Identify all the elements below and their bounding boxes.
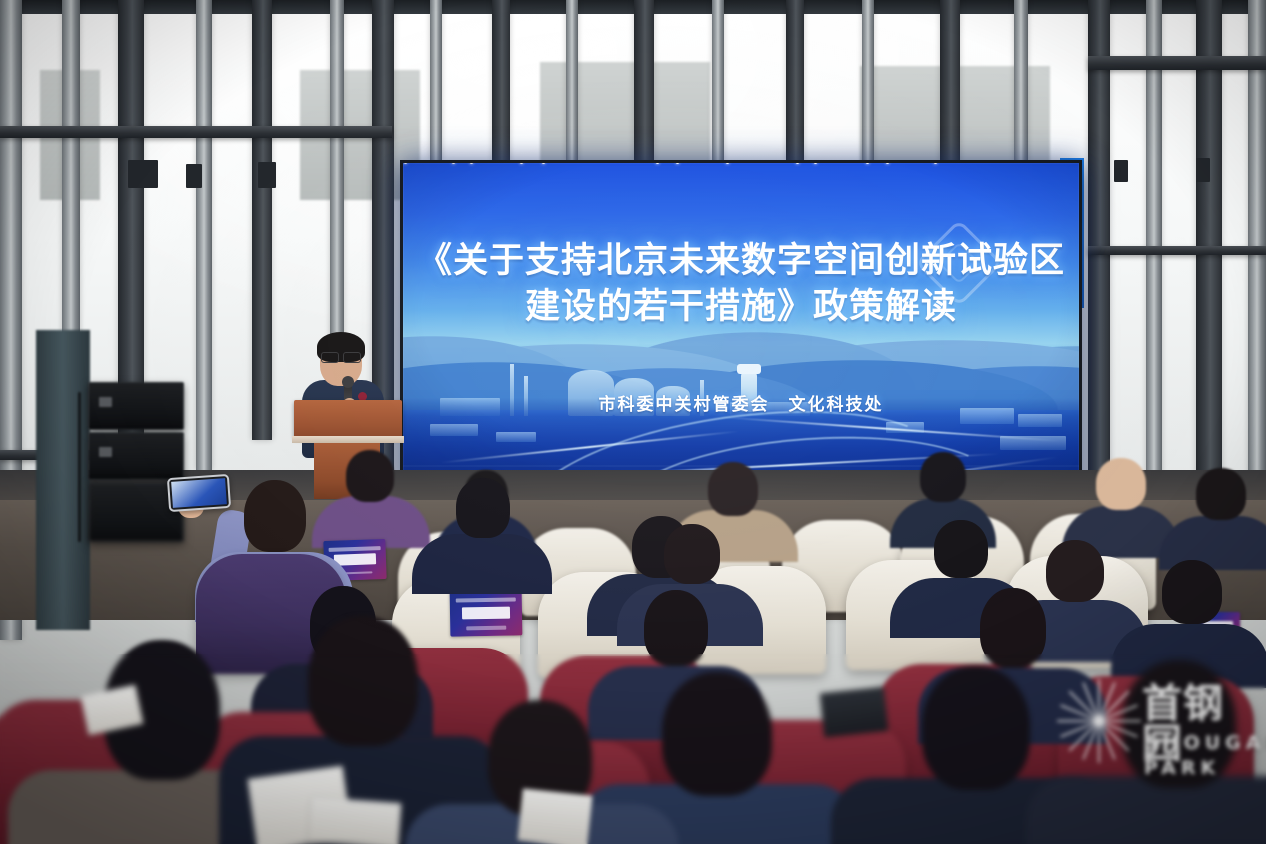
screen-mount-dot bbox=[470, 161, 473, 164]
screen-mount-dot bbox=[726, 161, 729, 164]
person-head bbox=[1162, 560, 1222, 624]
person-head bbox=[1122, 660, 1236, 788]
person-head bbox=[708, 462, 758, 516]
structural-beam bbox=[0, 126, 392, 138]
screen-mount-dot bbox=[866, 161, 869, 164]
beam-bracket bbox=[186, 164, 202, 188]
facade-mullion bbox=[196, 0, 212, 470]
pa-cable bbox=[78, 392, 81, 542]
screen-top-band bbox=[400, 160, 1082, 166]
pa-speaker-cabinet bbox=[88, 382, 184, 430]
seat-placard bbox=[450, 589, 523, 636]
printed-handout bbox=[309, 797, 402, 844]
beam-bracket bbox=[258, 162, 276, 188]
facade-mullion bbox=[862, 0, 874, 162]
podium-lip bbox=[292, 436, 404, 443]
person-head bbox=[644, 590, 708, 666]
printed-handout bbox=[820, 687, 888, 737]
facade-mullion bbox=[1014, 0, 1028, 162]
person-head bbox=[664, 524, 720, 584]
led-presentation-screen: 《关于支持北京未来数字空间创新试验区 建设的若干措施》政策解读 市科委中关村管委… bbox=[400, 160, 1082, 500]
phone-screen bbox=[171, 478, 227, 508]
screen-mount-dot bbox=[404, 161, 407, 164]
screen-mount-dot bbox=[934, 161, 937, 164]
screen-mount-dot bbox=[676, 161, 679, 164]
pa-speaker-cabinet bbox=[88, 432, 184, 480]
pa-speaker-badge bbox=[99, 397, 112, 407]
placard-line-bottom bbox=[466, 626, 506, 630]
facade-mullion bbox=[252, 0, 272, 440]
glasses-icon bbox=[321, 352, 361, 361]
person-head bbox=[934, 520, 988, 578]
beam-bracket bbox=[1114, 160, 1128, 182]
placard-name-text bbox=[461, 606, 510, 619]
person-head bbox=[662, 672, 772, 796]
person-head bbox=[922, 666, 1030, 790]
placard-line-top bbox=[455, 598, 516, 603]
facade-mullion bbox=[330, 0, 344, 360]
podium-top bbox=[294, 400, 402, 438]
facade-mullion bbox=[430, 0, 442, 160]
structural-beam bbox=[1088, 56, 1266, 70]
facade-mullion bbox=[712, 0, 724, 162]
facade-mullion bbox=[492, 0, 510, 162]
ceiling-strip bbox=[0, 0, 1266, 14]
beam-bracket bbox=[128, 160, 158, 188]
printed-handout bbox=[517, 788, 592, 844]
facade-mullion bbox=[566, 0, 578, 162]
person-head bbox=[920, 452, 966, 502]
audience-member bbox=[332, 450, 410, 546]
slide-title-block: 《关于支持北京未来数字空间创新试验区 建设的若干措施》政策解读 bbox=[400, 238, 1082, 330]
person-head bbox=[1096, 458, 1146, 510]
person-head bbox=[244, 480, 306, 552]
event-photo: 《关于支持北京未来数字空间创新试验区 建设的若干措施》政策解读 市科委中关村管委… bbox=[0, 0, 1266, 844]
screen-mount-dot bbox=[796, 161, 799, 164]
slide-subtitle: 市科委中关村管委会 文化科技处 bbox=[400, 390, 1082, 415]
person-head bbox=[308, 616, 418, 746]
pa-speaker-badge bbox=[99, 447, 112, 457]
audience-member bbox=[436, 478, 528, 590]
screen-mount-dot bbox=[814, 161, 817, 164]
screen-mount-dot bbox=[520, 161, 523, 164]
placard-name-text bbox=[334, 554, 377, 566]
slide-title-line2: 建设的若干措施》政策解读 bbox=[400, 284, 1082, 330]
speaker-stand bbox=[36, 330, 90, 630]
person-shoulders bbox=[412, 534, 552, 594]
person-head bbox=[346, 450, 394, 502]
person-head bbox=[1196, 468, 1246, 520]
person-head bbox=[456, 478, 510, 538]
city-block bbox=[496, 432, 536, 442]
facade-mullion bbox=[940, 0, 960, 162]
slide-title-line1: 《关于支持北京未来数字空间创新试验区 bbox=[400, 238, 1082, 284]
city-block bbox=[430, 424, 478, 436]
beam-bracket bbox=[1196, 158, 1210, 182]
structural-beam bbox=[1088, 246, 1266, 255]
screen-mount-dot bbox=[886, 161, 889, 164]
screen-mount-dot bbox=[656, 161, 659, 164]
screen-mount-dot bbox=[452, 161, 455, 164]
person-head bbox=[980, 588, 1046, 668]
audience-member bbox=[1180, 468, 1262, 566]
city-block bbox=[1018, 414, 1062, 427]
person-shoulders bbox=[1026, 776, 1266, 844]
facade-mullion bbox=[786, 0, 804, 162]
screen-mount-dot bbox=[542, 161, 545, 164]
facade-mullion bbox=[634, 0, 654, 162]
placard-line-top bbox=[329, 546, 381, 551]
audience-member bbox=[1078, 660, 1266, 844]
